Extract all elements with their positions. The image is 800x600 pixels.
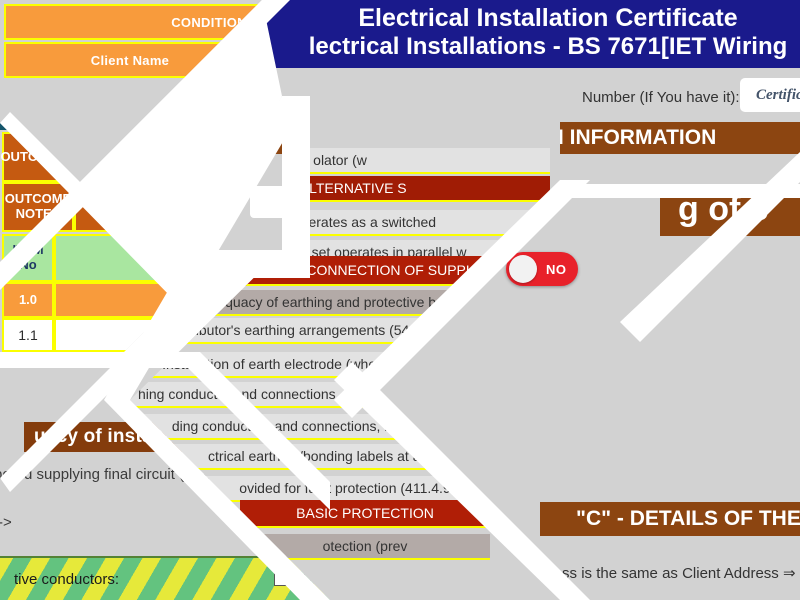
ze-label: board supplying final circuit (Ze): bbox=[0, 466, 211, 483]
eic-title-line-1: Electrical Installation Certificate bbox=[248, 4, 800, 33]
certificate-number-input[interactable]: Certific bbox=[740, 78, 800, 112]
checklist-section-header: IED ALTERNATIVE S bbox=[130, 176, 550, 202]
earth-checkbox[interactable] bbox=[274, 573, 287, 586]
protective-conductors-band: tive conductors: *Eart bbox=[0, 556, 340, 600]
toggle-knob bbox=[509, 255, 537, 283]
protective-conductors-label: tive conductors: bbox=[14, 571, 119, 588]
client-name-bar: Client Name bbox=[4, 42, 256, 78]
item-number: 1.1 bbox=[18, 327, 37, 343]
item-row-1.0-no: 1.0 bbox=[2, 282, 54, 318]
arrow-indicator: -> bbox=[0, 514, 12, 531]
screenshot-stage: CONDITION REPORT Client Name Client name… bbox=[0, 0, 800, 600]
item-row-1.1-no: 1.1 bbox=[2, 318, 54, 352]
overlay-section-c-header: "C" - DETAILS OF THE bbox=[540, 502, 800, 536]
toggle-state-label: NO bbox=[546, 262, 567, 277]
certificate-number-label: Number (If You have it): bbox=[582, 89, 740, 106]
eic-title-line-2: lectrical Installations - BS 7671[IET Wi… bbox=[248, 33, 800, 62]
item-no-header-cell: ITEM No bbox=[2, 234, 54, 282]
checklist-section-header: BASIC PROTECTION bbox=[240, 500, 490, 528]
checklist-row[interactable]: olator (w bbox=[130, 148, 550, 174]
checklist-row[interactable]: ting set operates as a switched bbox=[130, 210, 550, 236]
item-number: 1.0 bbox=[19, 293, 37, 308]
item-no-header-label: ITEM No bbox=[4, 243, 52, 273]
client-name-label: Client Name bbox=[91, 53, 169, 68]
installation-address-toggle-visible[interactable]: NO bbox=[506, 252, 578, 286]
outcome-notes-label-cell: OUTCOME NOTES bbox=[2, 182, 74, 232]
outcome-notes-label: OUTCOME NOTES bbox=[4, 192, 72, 222]
eic-header-banner: Electrical Installation Certificate lect… bbox=[248, 0, 800, 68]
